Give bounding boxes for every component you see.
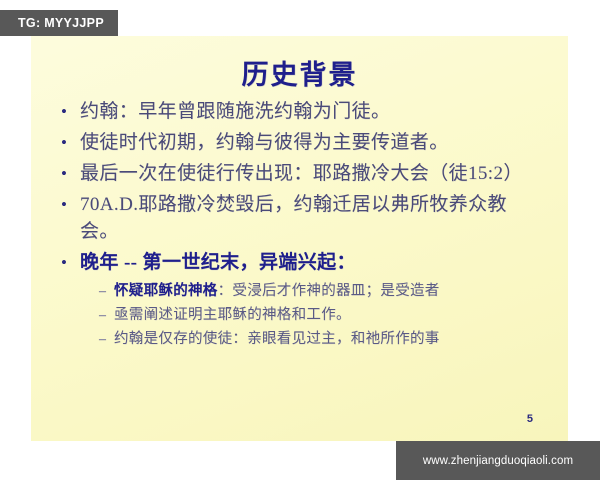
sub-bullet-list: – 怀疑耶稣的神格：受浸后才作神的器皿；是受造者 – 亟需阐述证明主耶稣的神格和… xyxy=(99,280,545,351)
list-item-text: 晚年 -- 第一世纪末，异端兴起： xyxy=(80,249,545,276)
dash-icon: – xyxy=(99,280,114,303)
bullet-icon: • xyxy=(61,129,80,156)
page-number: 5 xyxy=(527,413,533,425)
sub-list-item-rest: ：受浸后才作神的器皿；是受造者 xyxy=(218,283,440,299)
sub-list-item-text: 怀疑耶稣的神格：受浸后才作神的器皿；是受造者 xyxy=(114,280,545,303)
site-watermark-bar: www.zhenjiangduoqiaoli.com xyxy=(396,441,600,480)
sub-list-item-lead: 怀疑耶稣的神格 xyxy=(114,283,218,299)
list-item: • 最后一次在使徒行传出现：耶路撒冷大会（徒15:2） xyxy=(61,160,545,187)
bullet-list: • 约翰：早年曾跟随施洗约翰为门徒。 • 使徒时代初期，约翰与彼得为主要传道者。… xyxy=(61,98,545,352)
bullet-icon: • xyxy=(61,191,80,218)
sub-list-item: – 亟需阐述证明主耶稣的神格和工作。 xyxy=(99,304,545,327)
bullet-icon: • xyxy=(61,98,80,125)
list-item: • 晚年 -- 第一世纪末，异端兴起： xyxy=(61,249,545,276)
list-item: • 70A.D.耶路撒冷焚毁后，约翰迁居以弗所牧养众教会。 xyxy=(61,191,545,245)
sub-list-item-text: 亟需阐述证明主耶稣的神格和工作。 xyxy=(114,304,545,327)
telegram-watermark-label: TG: MYYJJPP xyxy=(18,16,104,30)
bullet-icon: • xyxy=(61,249,80,276)
list-item-text: 使徒时代初期，约翰与彼得为主要传道者。 xyxy=(80,129,545,156)
list-item-text: 约翰：早年曾跟随施洗约翰为门徒。 xyxy=(80,98,545,125)
presentation-slide: 历史背景 • 约翰：早年曾跟随施洗约翰为门徒。 • 使徒时代初期，约翰与彼得为主… xyxy=(31,36,568,441)
sub-list-item: – 约翰是仅存的使徒：亲眼看见过主，和祂所作的事 xyxy=(99,328,545,351)
list-item: • 使徒时代初期，约翰与彼得为主要传道者。 xyxy=(61,129,545,156)
list-item: • 约翰：早年曾跟随施洗约翰为门徒。 xyxy=(61,98,545,125)
list-item-text: 70A.D.耶路撒冷焚毁后，约翰迁居以弗所牧养众教会。 xyxy=(80,191,545,245)
sub-list-item: – 怀疑耶稣的神格：受浸后才作神的器皿；是受造者 xyxy=(99,280,545,303)
telegram-watermark-badge: TG: MYYJJPP xyxy=(0,10,118,36)
sub-list-item-rest: 亟需阐述证明主耶稣的神格和工作。 xyxy=(114,307,351,323)
dash-icon: – xyxy=(99,304,114,327)
sub-list-item-rest: 约翰是仅存的使徒：亲眼看见过主，和祂所作的事 xyxy=(114,331,440,347)
site-watermark-url: www.zhenjiangduoqiaoli.com xyxy=(423,455,573,467)
list-item-text: 最后一次在使徒行传出现：耶路撒冷大会（徒15:2） xyxy=(80,160,545,187)
sub-list-item-text: 约翰是仅存的使徒：亲眼看见过主，和祂所作的事 xyxy=(114,328,545,351)
dash-icon: – xyxy=(99,328,114,351)
bullet-icon: • xyxy=(61,160,80,187)
page-title: 历史背景 xyxy=(31,53,568,92)
